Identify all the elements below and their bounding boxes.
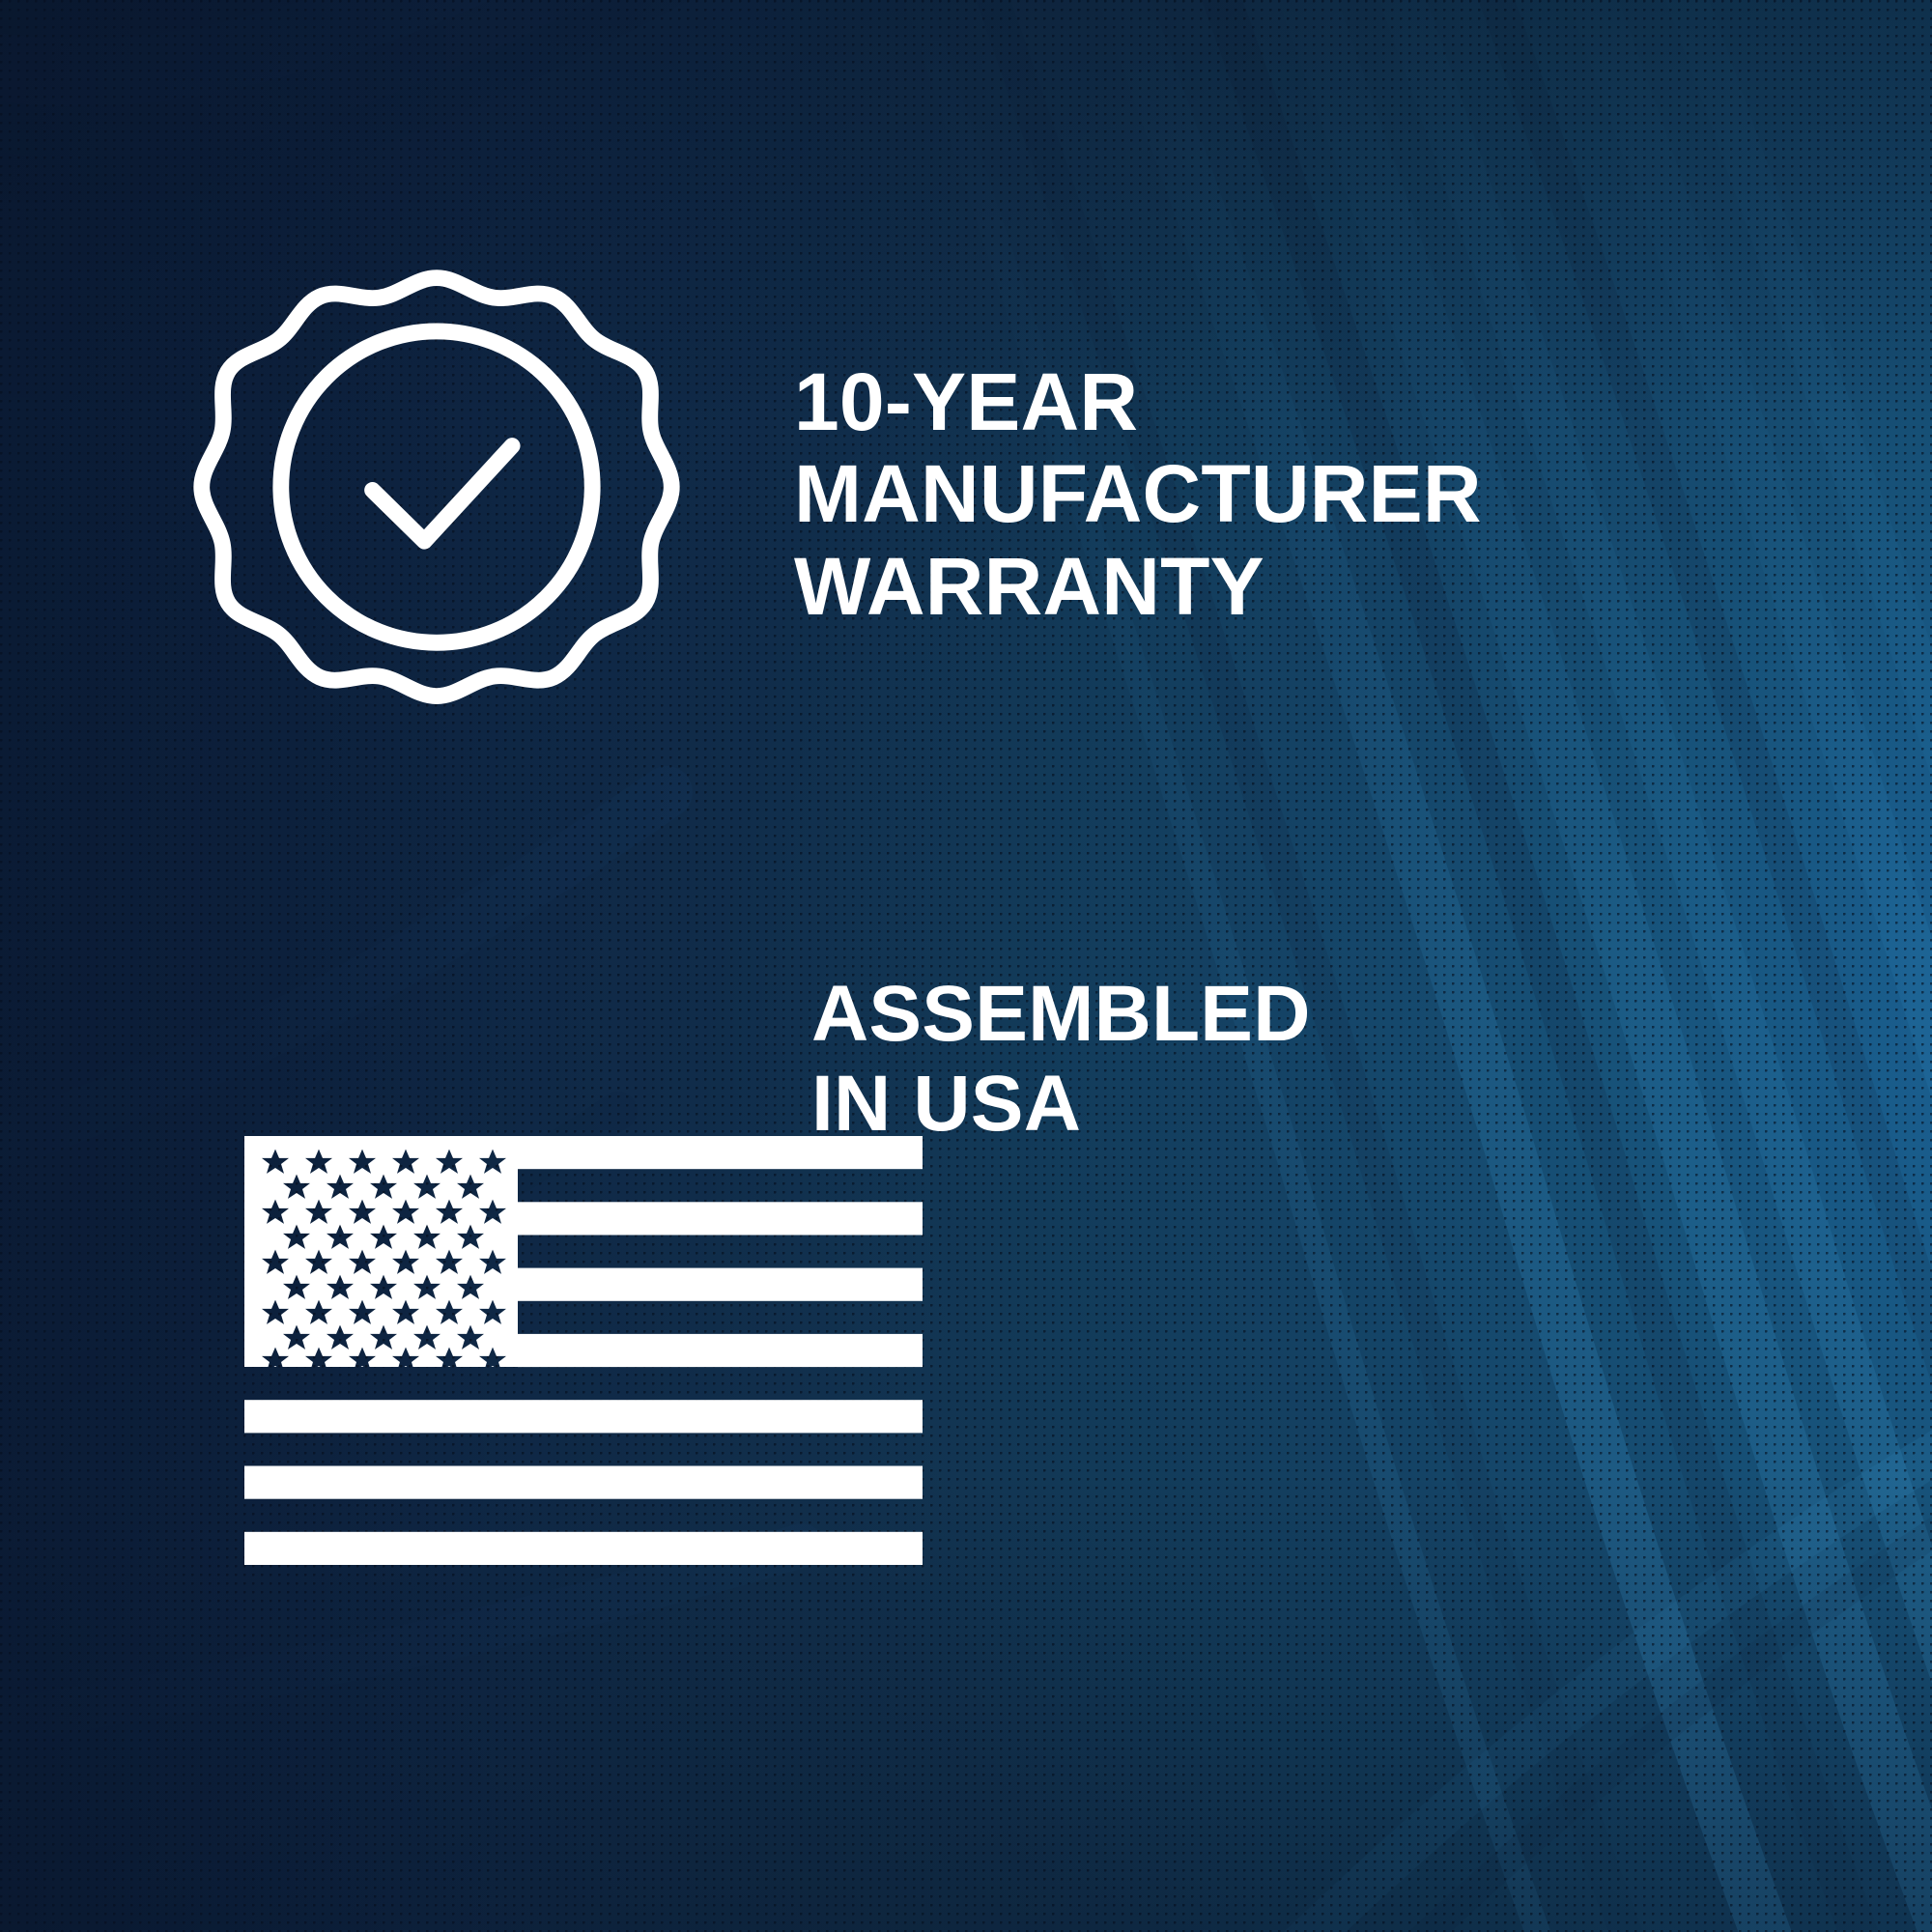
warranty-line-2: MANUFACTURER (794, 448, 1509, 540)
promo-graphic-canvas: 10-YEAR MANUFACTURER WARRANTY (0, 0, 1932, 1932)
warranty-line-1: 10-YEAR (794, 356, 1509, 448)
flag-canton (244, 1136, 518, 1367)
warranty-headline: 10-YEAR MANUFACTURER WARRANTY (794, 356, 1509, 633)
assembled-line-2: IN USA (811, 1059, 1526, 1149)
assembled-line-1: ASSEMBLED (811, 969, 1526, 1059)
usa-flag-icon (244, 1136, 923, 1565)
assembled-headline: ASSEMBLED IN USA (811, 969, 1526, 1149)
warranty-seal-badge-icon (191, 263, 682, 753)
warranty-line-3: WARRANTY (794, 541, 1509, 633)
